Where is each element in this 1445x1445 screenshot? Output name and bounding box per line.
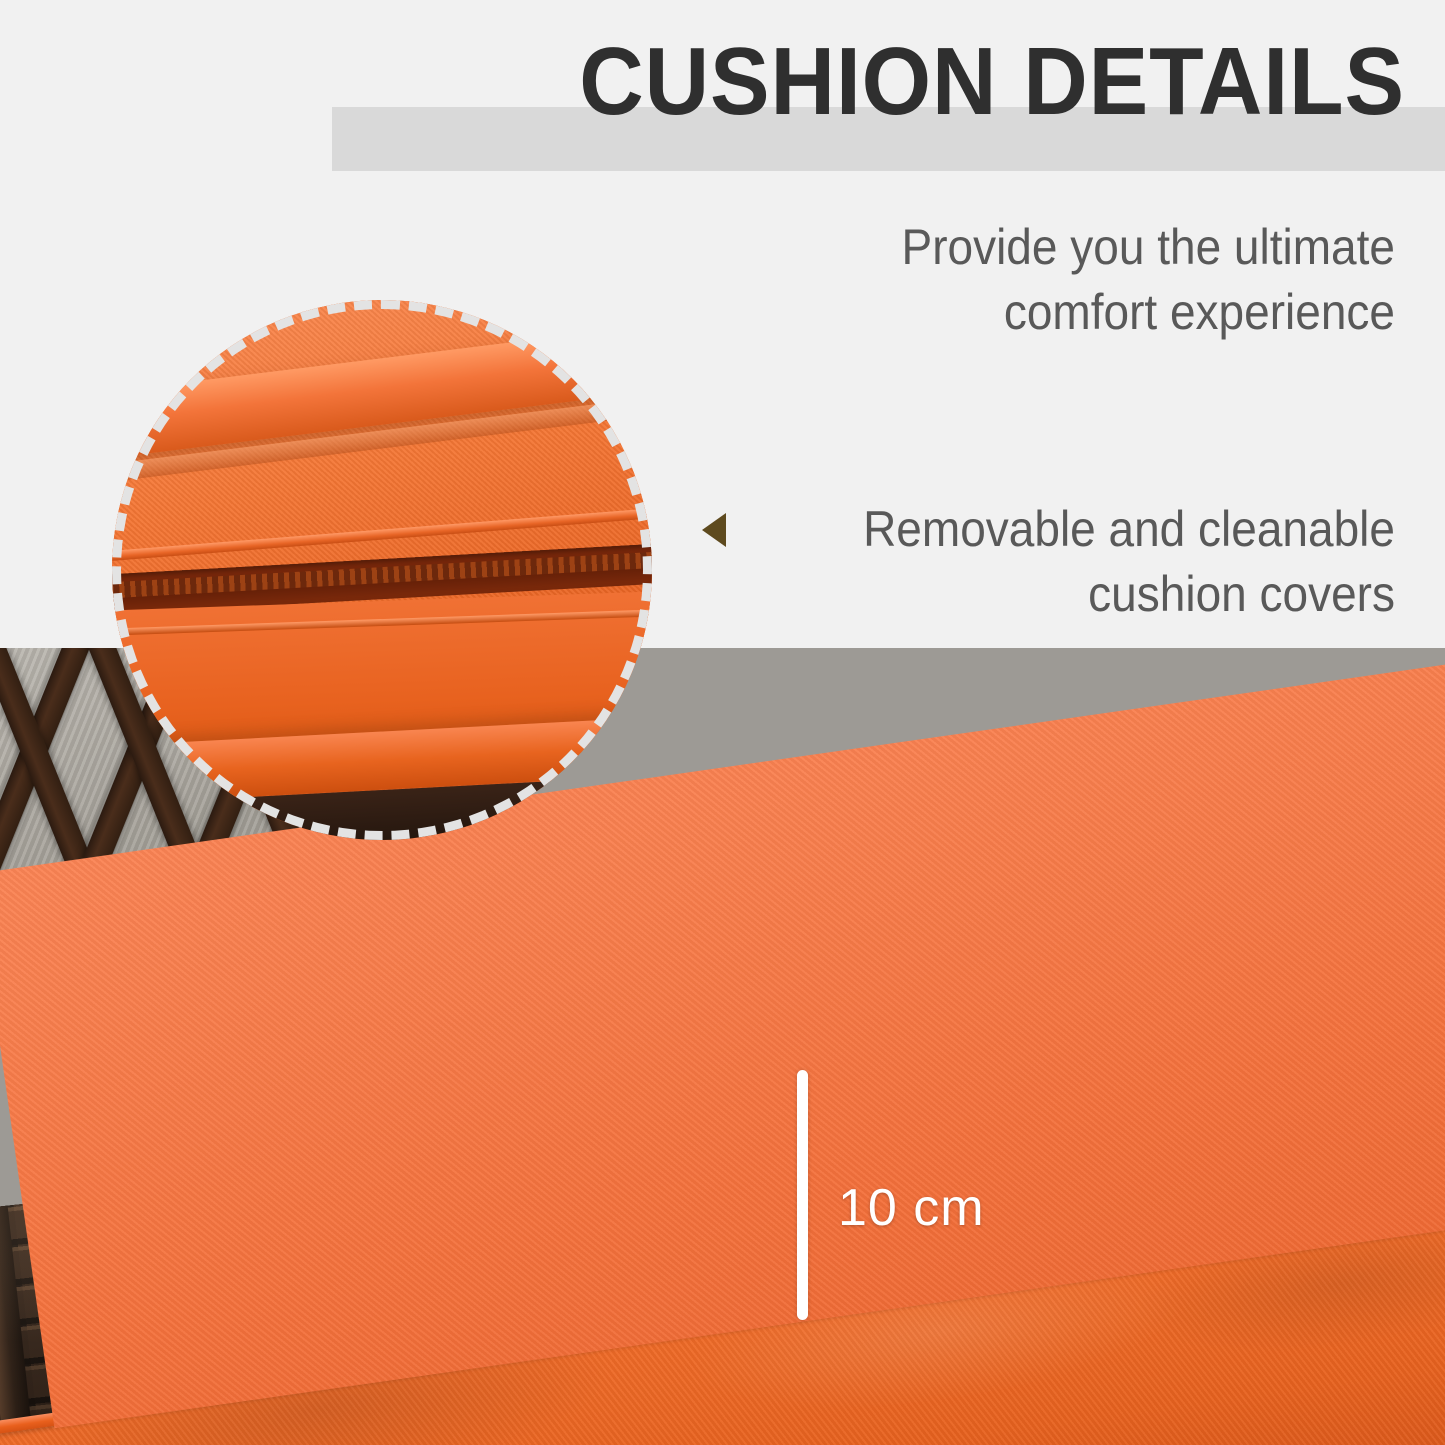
measurement-label: 10 cm bbox=[838, 1178, 985, 1238]
zipper-closeup-callout bbox=[112, 300, 652, 840]
page-title: CUSHION DETAILS bbox=[98, 34, 1405, 130]
infographic-canvas: 10 cm CUSHION DETAILS Provide you the ul… bbox=[0, 0, 1445, 1445]
feature-text-comfort: Provide you the ultimate comfort experie… bbox=[825, 215, 1395, 345]
feature-text-removable-covers: Removable and cleanable cushion covers bbox=[806, 497, 1395, 627]
triangle-left-icon bbox=[702, 513, 726, 547]
measurement-bar bbox=[797, 1070, 808, 1320]
